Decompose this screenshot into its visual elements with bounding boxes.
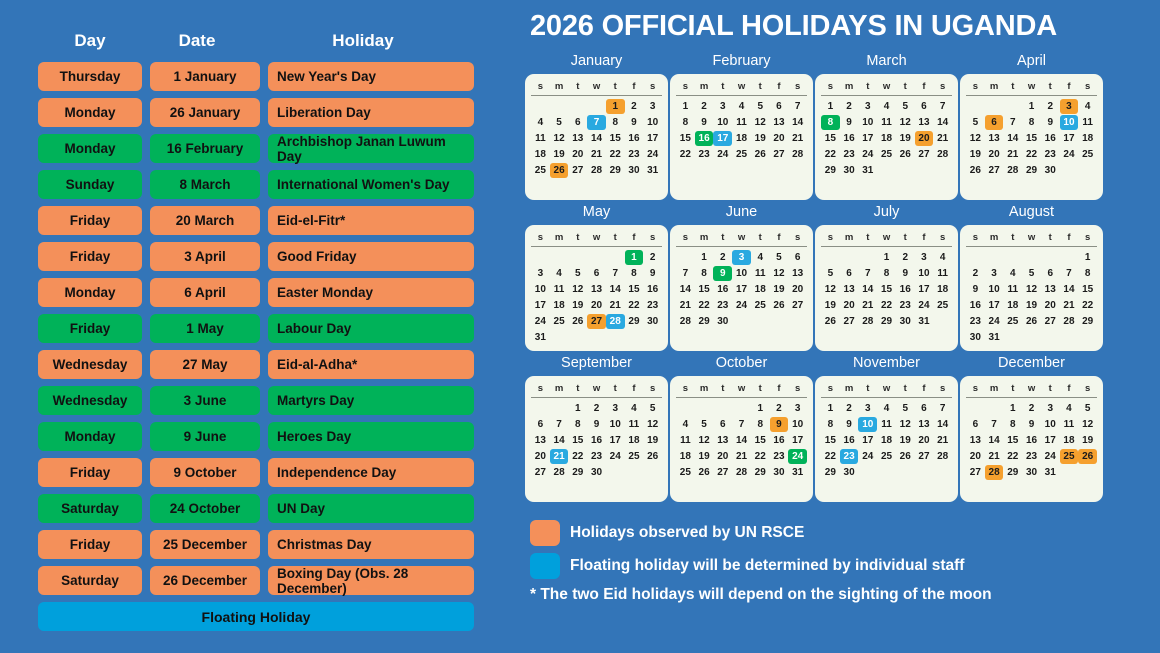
- day-cell[interactable]: 30: [587, 465, 606, 480]
- day-cell[interactable]: 23: [587, 449, 606, 464]
- day-cell-highlighted[interactable]: 28: [985, 465, 1004, 480]
- day-cell[interactable]: 25: [531, 163, 550, 178]
- day-cell[interactable]: 3: [858, 99, 877, 114]
- day-cell[interactable]: 18: [751, 282, 770, 297]
- day-cell[interactable]: 10: [985, 282, 1004, 297]
- day-cell[interactable]: 18: [1060, 433, 1079, 448]
- day-cell[interactable]: 22: [606, 147, 625, 162]
- day-cell[interactable]: 8: [751, 417, 770, 432]
- day-cell[interactable]: 8: [1003, 417, 1022, 432]
- day-cell[interactable]: 26: [770, 298, 789, 313]
- day-cell[interactable]: 24: [858, 449, 877, 464]
- day-cell[interactable]: 13: [531, 433, 550, 448]
- day-cell[interactable]: 25: [751, 298, 770, 313]
- day-cell[interactable]: 5: [643, 401, 662, 416]
- day-cell[interactable]: 3: [643, 99, 662, 114]
- day-cell[interactable]: 6: [531, 417, 550, 432]
- day-cell[interactable]: 18: [933, 282, 952, 297]
- day-cell[interactable]: 14: [788, 115, 807, 130]
- day-cell[interactable]: 18: [1003, 298, 1022, 313]
- day-cell[interactable]: 5: [695, 417, 714, 432]
- day-cell[interactable]: 21: [788, 131, 807, 146]
- day-cell[interactable]: 25: [676, 465, 695, 480]
- day-cell-highlighted[interactable]: 10: [858, 417, 877, 432]
- day-cell[interactable]: 30: [1022, 465, 1041, 480]
- day-cell[interactable]: 14: [858, 282, 877, 297]
- day-cell[interactable]: 14: [676, 282, 695, 297]
- day-cell[interactable]: 5: [896, 401, 915, 416]
- day-cell[interactable]: 23: [713, 298, 732, 313]
- day-cell[interactable]: 16: [966, 298, 985, 313]
- day-cell[interactable]: 30: [896, 314, 915, 329]
- day-cell[interactable]: 16: [1041, 131, 1060, 146]
- day-cell[interactable]: 3: [788, 401, 807, 416]
- day-cell[interactable]: 31: [788, 465, 807, 480]
- day-cell[interactable]: 15: [625, 282, 644, 297]
- floating-holiday-row[interactable]: Floating Holiday: [38, 602, 474, 631]
- day-cell[interactable]: 1: [877, 250, 896, 265]
- day-cell[interactable]: 11: [676, 433, 695, 448]
- day-cell[interactable]: 24: [643, 147, 662, 162]
- day-cell[interactable]: 22: [1003, 449, 1022, 464]
- day-cell[interactable]: 26: [821, 314, 840, 329]
- day-cell[interactable]: 20: [770, 131, 789, 146]
- day-cell-highlighted[interactable]: 3: [732, 250, 751, 265]
- day-cell[interactable]: 8: [877, 266, 896, 281]
- day-cell[interactable]: 4: [751, 250, 770, 265]
- day-cell[interactable]: 28: [858, 314, 877, 329]
- day-cell[interactable]: 22: [625, 298, 644, 313]
- day-cell[interactable]: 11: [1003, 282, 1022, 297]
- day-cell[interactable]: 22: [1022, 147, 1041, 162]
- day-cell[interactable]: 21: [933, 131, 952, 146]
- day-cell[interactable]: 26: [751, 147, 770, 162]
- day-cell[interactable]: 25: [550, 314, 569, 329]
- day-cell[interactable]: 30: [840, 465, 859, 480]
- day-cell-highlighted[interactable]: 21: [550, 449, 569, 464]
- table-row[interactable]: Thursday1 JanuaryNew Year's Day: [38, 62, 474, 91]
- day-cell[interactable]: 22: [1078, 298, 1097, 313]
- day-cell[interactable]: 8: [676, 115, 695, 130]
- day-cell[interactable]: 4: [1078, 99, 1097, 114]
- day-cell[interactable]: 2: [587, 401, 606, 416]
- day-cell[interactable]: 20: [1041, 298, 1060, 313]
- day-cell[interactable]: 17: [915, 282, 934, 297]
- day-cell[interactable]: 30: [643, 314, 662, 329]
- day-cell[interactable]: 5: [751, 99, 770, 114]
- day-cell[interactable]: 30: [1041, 163, 1060, 178]
- day-cell[interactable]: 12: [896, 115, 915, 130]
- day-cell[interactable]: 24: [713, 147, 732, 162]
- day-cell[interactable]: 13: [985, 131, 1004, 146]
- day-cell[interactable]: 17: [1041, 433, 1060, 448]
- table-row[interactable]: Saturday24 OctoberUN Day: [38, 494, 474, 523]
- day-cell[interactable]: 13: [788, 266, 807, 281]
- day-cell[interactable]: 15: [821, 433, 840, 448]
- day-cell[interactable]: 9: [966, 282, 985, 297]
- day-cell[interactable]: 17: [606, 433, 625, 448]
- day-cell[interactable]: 13: [966, 433, 985, 448]
- day-cell[interactable]: 20: [915, 433, 934, 448]
- day-cell[interactable]: 7: [550, 417, 569, 432]
- day-cell[interactable]: 19: [1022, 298, 1041, 313]
- day-cell[interactable]: 28: [788, 147, 807, 162]
- day-cell[interactable]: 31: [531, 330, 550, 345]
- day-cell[interactable]: 2: [896, 250, 915, 265]
- day-cell[interactable]: 3: [858, 401, 877, 416]
- day-cell[interactable]: 22: [695, 298, 714, 313]
- day-cell[interactable]: 20: [587, 298, 606, 313]
- day-cell[interactable]: 2: [713, 250, 732, 265]
- day-cell[interactable]: 6: [1041, 266, 1060, 281]
- day-cell[interactable]: 4: [1060, 401, 1079, 416]
- day-cell-highlighted[interactable]: 1: [606, 99, 625, 114]
- day-cell[interactable]: 10: [858, 115, 877, 130]
- day-cell[interactable]: 10: [1041, 417, 1060, 432]
- day-cell[interactable]: 15: [695, 282, 714, 297]
- day-cell[interactable]: 19: [1078, 433, 1097, 448]
- day-cell[interactable]: 10: [713, 115, 732, 130]
- day-cell[interactable]: 22: [877, 298, 896, 313]
- day-cell[interactable]: 18: [877, 131, 896, 146]
- day-cell[interactable]: 23: [840, 147, 859, 162]
- day-cell[interactable]: 6: [915, 401, 934, 416]
- day-cell[interactable]: 7: [676, 266, 695, 281]
- day-cell[interactable]: 14: [933, 417, 952, 432]
- day-cell[interactable]: 11: [531, 131, 550, 146]
- day-cell[interactable]: 5: [821, 266, 840, 281]
- day-cell[interactable]: 21: [985, 449, 1004, 464]
- day-cell-highlighted[interactable]: 17: [713, 131, 732, 146]
- day-cell[interactable]: 26: [568, 314, 587, 329]
- day-cell[interactable]: 8: [695, 266, 714, 281]
- day-cell[interactable]: 3: [531, 266, 550, 281]
- day-cell[interactable]: 26: [896, 147, 915, 162]
- day-cell[interactable]: 16: [896, 282, 915, 297]
- day-cell[interactable]: 11: [933, 266, 952, 281]
- day-cell[interactable]: 28: [1060, 314, 1079, 329]
- day-cell[interactable]: 1: [1022, 99, 1041, 114]
- day-cell[interactable]: 23: [770, 449, 789, 464]
- day-cell[interactable]: 20: [966, 449, 985, 464]
- day-cell[interactable]: 4: [550, 266, 569, 281]
- day-cell[interactable]: 13: [840, 282, 859, 297]
- day-cell[interactable]: 1: [821, 99, 840, 114]
- day-cell[interactable]: 31: [985, 330, 1004, 345]
- day-cell[interactable]: 12: [770, 266, 789, 281]
- table-row[interactable]: Friday3 AprilGood Friday: [38, 242, 474, 271]
- day-cell[interactable]: 8: [1078, 266, 1097, 281]
- day-cell[interactable]: 29: [568, 465, 587, 480]
- day-cell[interactable]: 16: [770, 433, 789, 448]
- day-cell[interactable]: 21: [606, 298, 625, 313]
- day-cell[interactable]: 9: [896, 266, 915, 281]
- day-cell[interactable]: 14: [933, 115, 952, 130]
- day-cell[interactable]: 24: [606, 449, 625, 464]
- day-cell[interactable]: 11: [625, 417, 644, 432]
- day-cell[interactable]: 12: [550, 131, 569, 146]
- day-cell[interactable]: 25: [625, 449, 644, 464]
- table-row[interactable]: Monday6 AprilEaster Monday: [38, 278, 474, 307]
- day-cell[interactable]: 13: [770, 115, 789, 130]
- day-cell[interactable]: 15: [751, 433, 770, 448]
- day-cell[interactable]: 29: [695, 314, 714, 329]
- day-cell-highlighted[interactable]: 7: [587, 115, 606, 130]
- day-cell[interactable]: 9: [840, 115, 859, 130]
- day-cell[interactable]: 15: [606, 131, 625, 146]
- day-cell[interactable]: 23: [896, 298, 915, 313]
- day-cell[interactable]: 17: [643, 131, 662, 146]
- day-cell[interactable]: 7: [788, 99, 807, 114]
- day-cell[interactable]: 15: [1022, 131, 1041, 146]
- day-cell[interactable]: 1: [568, 401, 587, 416]
- day-cell[interactable]: 25: [1003, 314, 1022, 329]
- day-cell[interactable]: 12: [568, 282, 587, 297]
- day-cell[interactable]: 21: [587, 147, 606, 162]
- day-cell[interactable]: 13: [1041, 282, 1060, 297]
- day-cell[interactable]: 17: [985, 298, 1004, 313]
- day-cell[interactable]: 19: [896, 131, 915, 146]
- day-cell[interactable]: 7: [985, 417, 1004, 432]
- day-cell[interactable]: 29: [821, 465, 840, 480]
- day-cell[interactable]: 21: [676, 298, 695, 313]
- day-cell-highlighted[interactable]: 6: [985, 115, 1004, 130]
- day-cell[interactable]: 23: [966, 314, 985, 329]
- day-cell[interactable]: 1: [1078, 250, 1097, 265]
- day-cell[interactable]: 27: [915, 449, 934, 464]
- day-cell[interactable]: 26: [896, 449, 915, 464]
- day-cell[interactable]: 8: [821, 417, 840, 432]
- day-cell[interactable]: 18: [1078, 131, 1097, 146]
- day-cell[interactable]: 7: [933, 99, 952, 114]
- day-cell[interactable]: 8: [568, 417, 587, 432]
- day-cell[interactable]: 19: [770, 282, 789, 297]
- table-row[interactable]: Friday9 OctoberIndependence Day: [38, 458, 474, 487]
- day-cell[interactable]: 11: [732, 115, 751, 130]
- table-row[interactable]: Wednesday3 JuneMartyrs Day: [38, 386, 474, 415]
- table-row[interactable]: Monday26 JanuaryLiberation Day: [38, 98, 474, 127]
- day-cell[interactable]: 4: [877, 401, 896, 416]
- day-cell[interactable]: 28: [933, 147, 952, 162]
- day-cell[interactable]: 17: [788, 433, 807, 448]
- day-cell[interactable]: 3: [606, 401, 625, 416]
- day-cell[interactable]: 26: [643, 449, 662, 464]
- table-row[interactable]: Sunday8 MarchInternational Women's Day: [38, 170, 474, 199]
- day-cell[interactable]: 6: [915, 99, 934, 114]
- table-row[interactable]: Monday9 JuneHeroes Day: [38, 422, 474, 451]
- day-cell[interactable]: 20: [840, 298, 859, 313]
- day-cell-highlighted[interactable]: 8: [821, 115, 840, 130]
- day-cell[interactable]: 3: [1041, 401, 1060, 416]
- day-cell[interactable]: 12: [751, 115, 770, 130]
- day-cell-highlighted[interactable]: 1: [625, 250, 644, 265]
- day-cell-highlighted[interactable]: 16: [695, 131, 714, 146]
- day-cell[interactable]: 19: [695, 449, 714, 464]
- day-cell[interactable]: 14: [1060, 282, 1079, 297]
- day-cell[interactable]: 5: [1022, 266, 1041, 281]
- day-cell[interactable]: 2: [625, 99, 644, 114]
- day-cell[interactable]: 24: [1041, 449, 1060, 464]
- day-cell[interactable]: 4: [625, 401, 644, 416]
- day-cell[interactable]: 18: [550, 298, 569, 313]
- day-cell[interactable]: 26: [966, 163, 985, 178]
- day-cell[interactable]: 22: [821, 147, 840, 162]
- day-cell[interactable]: 19: [751, 131, 770, 146]
- day-cell[interactable]: 24: [732, 298, 751, 313]
- day-cell-highlighted[interactable]: 26: [550, 163, 569, 178]
- day-cell[interactable]: 21: [933, 433, 952, 448]
- day-cell[interactable]: 23: [643, 298, 662, 313]
- day-cell[interactable]: 23: [625, 147, 644, 162]
- day-cell[interactable]: 11: [1078, 115, 1097, 130]
- day-cell[interactable]: 12: [1022, 282, 1041, 297]
- day-cell[interactable]: 13: [568, 131, 587, 146]
- day-cell[interactable]: 18: [877, 433, 896, 448]
- day-cell[interactable]: 24: [915, 298, 934, 313]
- day-cell[interactable]: 9: [587, 417, 606, 432]
- day-cell-highlighted[interactable]: 23: [840, 449, 859, 464]
- day-cell[interactable]: 17: [531, 298, 550, 313]
- day-cell[interactable]: 25: [1078, 147, 1097, 162]
- day-cell[interactable]: 29: [751, 465, 770, 480]
- day-cell[interactable]: 28: [676, 314, 695, 329]
- day-cell[interactable]: 27: [1041, 314, 1060, 329]
- day-cell[interactable]: 27: [840, 314, 859, 329]
- day-cell[interactable]: 10: [531, 282, 550, 297]
- day-cell[interactable]: 28: [587, 163, 606, 178]
- day-cell[interactable]: 18: [732, 131, 751, 146]
- day-cell[interactable]: 12: [966, 131, 985, 146]
- day-cell[interactable]: 2: [643, 250, 662, 265]
- day-cell[interactable]: 22: [568, 449, 587, 464]
- day-cell[interactable]: 9: [1022, 417, 1041, 432]
- day-cell[interactable]: 11: [1060, 417, 1079, 432]
- day-cell[interactable]: 6: [568, 115, 587, 130]
- day-cell[interactable]: 30: [770, 465, 789, 480]
- day-cell[interactable]: 18: [531, 147, 550, 162]
- day-cell[interactable]: 11: [877, 115, 896, 130]
- day-cell[interactable]: 28: [933, 449, 952, 464]
- day-cell[interactable]: 8: [606, 115, 625, 130]
- day-cell[interactable]: 1: [1003, 401, 1022, 416]
- day-cell[interactable]: 25: [933, 298, 952, 313]
- day-cell[interactable]: 31: [858, 163, 877, 178]
- day-cell[interactable]: 24: [1060, 147, 1079, 162]
- day-cell[interactable]: 9: [625, 115, 644, 130]
- day-cell[interactable]: 7: [858, 266, 877, 281]
- day-cell[interactable]: 9: [643, 266, 662, 281]
- day-cell[interactable]: 16: [625, 131, 644, 146]
- day-cell[interactable]: 9: [1041, 115, 1060, 130]
- day-cell[interactable]: 29: [1003, 465, 1022, 480]
- day-cell[interactable]: 5: [896, 99, 915, 114]
- day-cell[interactable]: 12: [643, 417, 662, 432]
- day-cell[interactable]: 2: [695, 99, 714, 114]
- day-cell[interactable]: 17: [1060, 131, 1079, 146]
- day-cell-highlighted[interactable]: 10: [1060, 115, 1079, 130]
- day-cell[interactable]: 2: [770, 401, 789, 416]
- day-cell[interactable]: 27: [966, 465, 985, 480]
- day-cell-highlighted[interactable]: 3: [1060, 99, 1079, 114]
- day-cell[interactable]: 21: [1003, 147, 1022, 162]
- day-cell[interactable]: 6: [770, 99, 789, 114]
- day-cell[interactable]: 15: [676, 131, 695, 146]
- day-cell[interactable]: 25: [877, 449, 896, 464]
- day-cell[interactable]: 14: [550, 433, 569, 448]
- day-cell[interactable]: 15: [1003, 433, 1022, 448]
- day-cell[interactable]: 31: [643, 163, 662, 178]
- day-cell[interactable]: 14: [985, 433, 1004, 448]
- day-cell[interactable]: 22: [821, 449, 840, 464]
- day-cell[interactable]: 20: [531, 449, 550, 464]
- day-cell[interactable]: 6: [713, 417, 732, 432]
- day-cell[interactable]: 8: [1022, 115, 1041, 130]
- day-cell[interactable]: 19: [896, 433, 915, 448]
- day-cell[interactable]: 17: [858, 131, 877, 146]
- day-cell[interactable]: 18: [676, 449, 695, 464]
- day-cell[interactable]: 10: [788, 417, 807, 432]
- day-cell[interactable]: 6: [587, 266, 606, 281]
- day-cell[interactable]: 20: [568, 147, 587, 162]
- day-cell[interactable]: 21: [858, 298, 877, 313]
- day-cell[interactable]: 5: [550, 115, 569, 130]
- day-cell[interactable]: 29: [821, 163, 840, 178]
- table-row[interactable]: Friday1 MayLabour Day: [38, 314, 474, 343]
- day-cell[interactable]: 16: [840, 433, 859, 448]
- day-cell[interactable]: 11: [751, 266, 770, 281]
- day-cell[interactable]: 5: [1078, 401, 1097, 416]
- day-cell[interactable]: 30: [713, 314, 732, 329]
- day-cell[interactable]: 11: [550, 282, 569, 297]
- table-row[interactable]: Monday16 FebruaryArchbishop Janan Luwum …: [38, 134, 474, 163]
- day-cell[interactable]: 12: [695, 433, 714, 448]
- day-cell[interactable]: 4: [933, 250, 952, 265]
- day-cell[interactable]: 16: [713, 282, 732, 297]
- day-cell[interactable]: 21: [732, 449, 751, 464]
- day-cell[interactable]: 22: [676, 147, 695, 162]
- day-cell[interactable]: 27: [788, 298, 807, 313]
- day-cell[interactable]: 10: [606, 417, 625, 432]
- day-cell-highlighted[interactable]: 24: [788, 449, 807, 464]
- table-row[interactable]: Friday25 DecemberChristmas Day: [38, 530, 474, 559]
- day-cell[interactable]: 27: [985, 163, 1004, 178]
- day-cell[interactable]: 6: [966, 417, 985, 432]
- day-cell[interactable]: 28: [732, 465, 751, 480]
- day-cell[interactable]: 31: [1041, 465, 1060, 480]
- day-cell[interactable]: 3: [713, 99, 732, 114]
- day-cell[interactable]: 21: [1060, 298, 1079, 313]
- day-cell[interactable]: 13: [713, 433, 732, 448]
- day-cell-highlighted[interactable]: 26: [1078, 449, 1097, 464]
- day-cell[interactable]: 22: [751, 449, 770, 464]
- day-cell[interactable]: 27: [713, 465, 732, 480]
- day-cell[interactable]: 2: [1022, 401, 1041, 416]
- day-cell-highlighted[interactable]: 27: [587, 314, 606, 329]
- day-cell[interactable]: 2: [840, 99, 859, 114]
- day-cell[interactable]: 1: [751, 401, 770, 416]
- day-cell[interactable]: 13: [915, 115, 934, 130]
- day-cell[interactable]: 26: [695, 465, 714, 480]
- day-cell[interactable]: 25: [732, 147, 751, 162]
- day-cell[interactable]: 4: [877, 99, 896, 114]
- day-cell[interactable]: 29: [1078, 314, 1097, 329]
- day-cell[interactable]: 16: [643, 282, 662, 297]
- day-cell[interactable]: 10: [643, 115, 662, 130]
- day-cell[interactable]: 20: [985, 147, 1004, 162]
- day-cell[interactable]: 2: [966, 266, 985, 281]
- day-cell[interactable]: 12: [1078, 417, 1097, 432]
- day-cell[interactable]: 5: [568, 266, 587, 281]
